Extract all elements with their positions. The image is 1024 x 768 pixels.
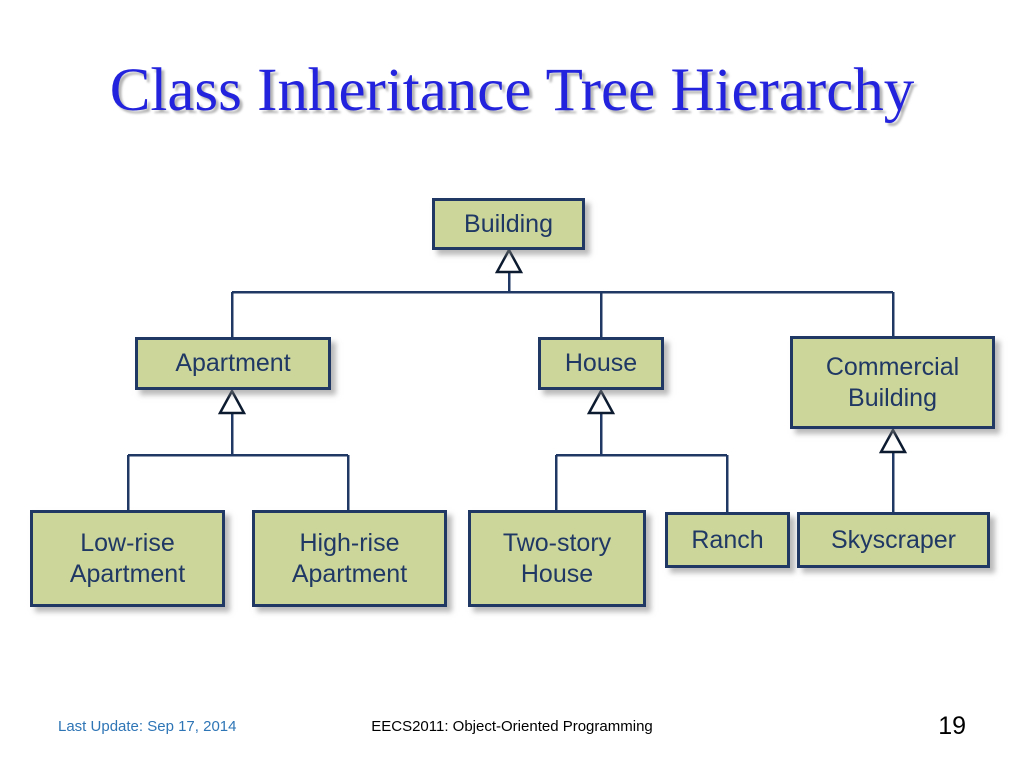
class-box-ranch[interactable]: Ranch — [665, 512, 790, 568]
class-box-apartment[interactable]: Apartment — [135, 337, 331, 390]
class-box-commercial-building[interactable]: Commercial Building — [790, 336, 995, 429]
class-box-label: High-rise Apartment — [261, 528, 438, 590]
class-hierarchy-diagram: Building Apartment House Commercial Buil… — [0, 0, 1024, 700]
class-box-label: Skyscraper — [806, 525, 981, 556]
class-box-label: Low-rise Apartment — [39, 528, 216, 590]
footer-course-title: EECS2011: Object-Oriented Programming — [0, 718, 1024, 735]
class-box-label: Ranch — [674, 525, 781, 556]
class-box-high-rise-apartment[interactable]: High-rise Apartment — [252, 510, 447, 607]
class-box-low-rise-apartment[interactable]: Low-rise Apartment — [30, 510, 225, 607]
generalization-arrow-to-house — [589, 391, 613, 413]
class-box-label: Commercial Building — [799, 352, 986, 414]
class-box-skyscraper[interactable]: Skyscraper — [797, 512, 990, 568]
class-box-label: Apartment — [144, 348, 322, 379]
class-box-house[interactable]: House — [538, 337, 664, 390]
class-box-label: Building — [441, 209, 576, 240]
footer-page-number: 19 — [938, 712, 966, 741]
class-box-label: House — [547, 348, 655, 379]
class-box-building[interactable]: Building — [432, 198, 585, 250]
generalization-arrow-to-commercial — [881, 430, 905, 452]
slide-footer: Last Update: Sep 17, 2014 EECS2011: Obje… — [0, 718, 1024, 748]
generalization-arrow-to-apartment — [220, 391, 244, 413]
class-box-two-story-house[interactable]: Two-story House — [468, 510, 646, 607]
generalization-arrow-to-building-from-level1 — [497, 250, 521, 272]
class-box-label: Two-story House — [477, 528, 637, 590]
